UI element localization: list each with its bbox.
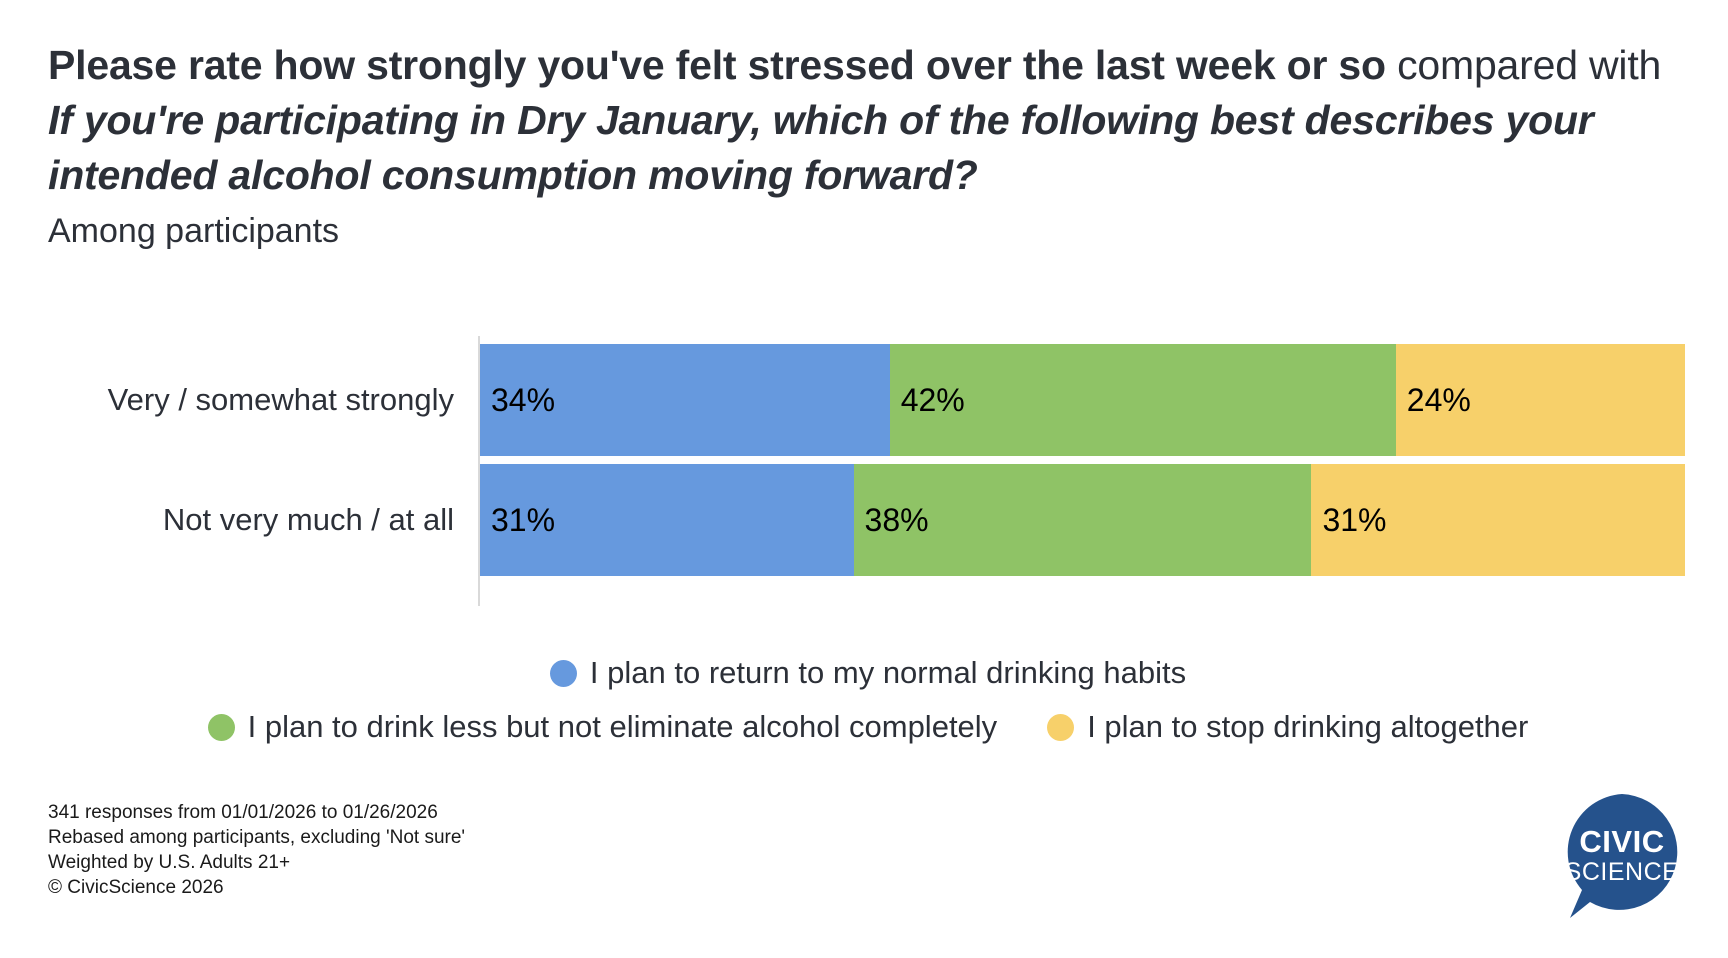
chart-bar-row: Very / somewhat strongly34%42%24% [48, 344, 1688, 456]
bar-segment[interactable]: 31% [1311, 464, 1685, 576]
legend-item-1[interactable]: I plan to drink less but not eliminate a… [208, 709, 998, 745]
footer-notes: 341 responses from 01/01/2026 to 01/26/2… [48, 800, 465, 900]
chart-legend: I plan to return to my normal drinking h… [48, 655, 1688, 763]
legend-row-1: I plan to return to my normal drinking h… [48, 655, 1688, 691]
legend-swatch-icon [1047, 714, 1074, 741]
title-crossed-question: If you're participating in Dry January, … [48, 97, 1594, 198]
chart-rows: Very / somewhat strongly34%42%24%Not ver… [48, 336, 1688, 606]
bar-segment[interactable]: 24% [1396, 344, 1685, 456]
category-label: Not very much / at all [48, 502, 468, 538]
bar-track: 31%38%31% [480, 464, 1685, 576]
bar-segment[interactable]: 31% [480, 464, 854, 576]
bar-segment[interactable]: 38% [854, 464, 1312, 576]
title-line-1: Please rate how strongly you've felt str… [48, 42, 1386, 88]
bar-value-label: 31% [1311, 502, 1386, 539]
bar-segment[interactable]: 42% [890, 344, 1396, 456]
legend-item-2[interactable]: I plan to stop drinking altogether [1047, 709, 1528, 745]
svg-text:SCIENCE: SCIENCE [1565, 858, 1680, 886]
logo-speech-bubble-icon: CIVIC SCIENCE [1556, 790, 1688, 922]
legend-swatch-icon [550, 660, 577, 687]
footer-rebase: Rebased among participants, excluding 'N… [48, 825, 465, 850]
chart-subtitle: Among participants [48, 209, 1688, 253]
chart-bar-row: Not very much / at all31%38%31% [48, 464, 1688, 576]
title-connector: compared with [1397, 42, 1661, 88]
legend-label: I plan to drink less but not eliminate a… [248, 709, 998, 745]
bar-track: 34%42%24% [480, 344, 1685, 456]
title-block: Please rate how strongly you've felt str… [48, 38, 1688, 253]
bar-value-label: 34% [480, 382, 555, 419]
legend-swatch-icon [208, 714, 235, 741]
legend-label: I plan to return to my normal drinking h… [590, 655, 1186, 691]
bar-value-label: 38% [854, 502, 929, 539]
legend-item-0[interactable]: I plan to return to my normal drinking h… [550, 655, 1186, 691]
svg-text:CIVIC: CIVIC [1579, 824, 1664, 859]
legend-row-2: I plan to drink less but not eliminate a… [48, 709, 1688, 745]
footer-copyright: © CivicScience 2026 [48, 875, 465, 900]
bar-value-label: 42% [890, 382, 965, 419]
category-label: Very / somewhat strongly [48, 382, 468, 418]
footer-weighting: Weighted by U.S. Adults 21+ [48, 850, 465, 875]
civicscience-logo: CIVIC SCIENCE [1556, 790, 1688, 922]
bar-value-label: 24% [1396, 382, 1471, 419]
bar-value-label: 31% [480, 502, 555, 539]
chart-area: Very / somewhat strongly34%42%24%Not ver… [48, 336, 1688, 606]
page-title: Please rate how strongly you've felt str… [48, 38, 1688, 203]
legend-label: I plan to stop drinking altogether [1087, 709, 1528, 745]
footer-responses: 341 responses from 01/01/2026 to 01/26/2… [48, 800, 465, 825]
bar-segment[interactable]: 34% [480, 344, 890, 456]
